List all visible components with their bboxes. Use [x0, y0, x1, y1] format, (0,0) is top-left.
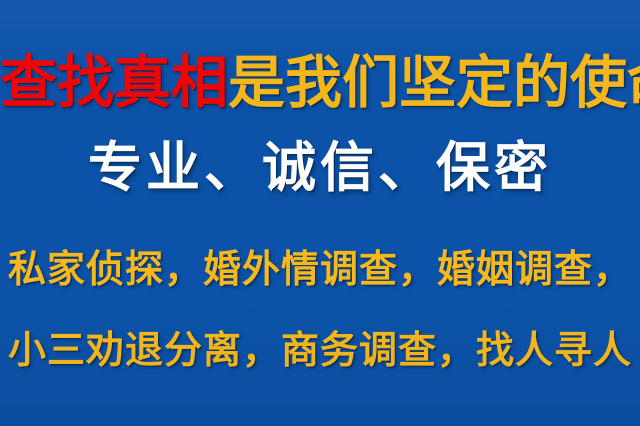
headline-text: 查找真相是我们坚定的使命 [0, 55, 640, 112]
headline-rest-text: 是我们坚定的使命 [228, 55, 640, 112]
services-list-line-2: 小三劝退分离，商务调查，找人寻人 [0, 331, 640, 369]
values-tagline: 专业、诚信、保密 [0, 141, 640, 195]
services-list-line-1: 私家侦探，婚外情调查，婚姻调查， [0, 250, 640, 288]
advertisement-banner: 查找真相是我们坚定的使命 专业、诚信、保密 私家侦探，婚外情调查，婚姻调查， 小… [0, 0, 640, 426]
headline-emphasis-text: 查找真相 [0, 55, 228, 112]
